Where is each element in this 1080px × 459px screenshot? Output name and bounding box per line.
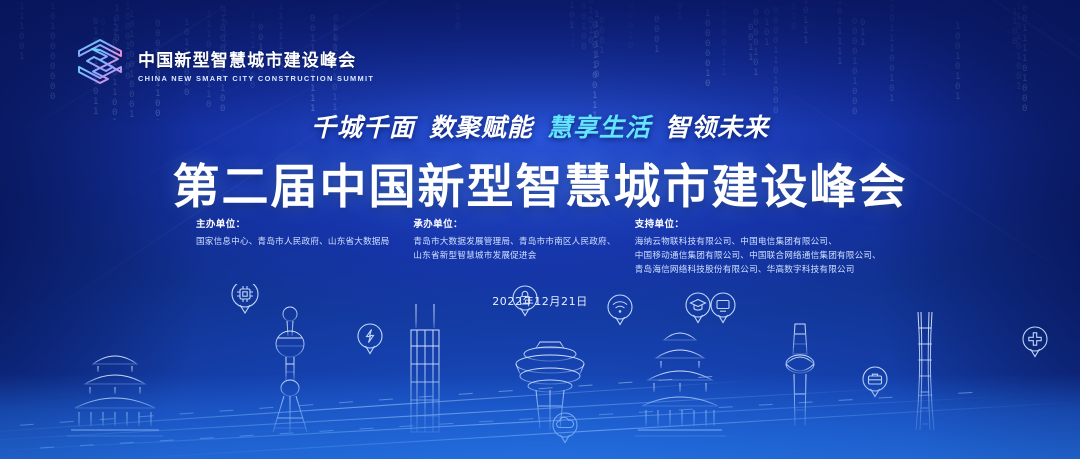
binary-column: 1 0 0 1 0 1 0 1 [955,22,961,102]
logo-title-en: CHINA NEW SMART CITY CONSTRUCTION SUMMIT [138,74,374,83]
binary-column: 1 1 1 0 0 1 [19,2,25,62]
binary-column: 0 1 0 1 [764,8,770,48]
binary-column: 0 0 1 1 1 1 0 1 0 0 0 [1022,4,1028,114]
binary-column: 0 0 0 0 1 1 0 1 0 0 0 [773,6,779,116]
binary-column: 0 1 0 1 [569,0,575,31]
binary-column: 0 1 1 [570,19,576,49]
binary-column: 1 0 1 1 1 [803,0,809,46]
organizer-list: 主办单位：国家信息中心、青岛市人民政府、山东省大数据局承办单位：青岛市大数据发展… [196,216,896,278]
summit-slogan: 千城千面数聚赋能慧享生活智领未来 [0,108,1080,144]
pin-briefcase-icon [863,367,887,397]
binary-column: 0 0 0 1 0 [628,1,634,51]
organizer-line: 中国移动通信集团有限公司、中国联合网络通信集团有限公司、 [635,249,896,263]
binary-column: 1 0 0 1 0 0 [581,0,587,52]
event-date: 2022年12月21日 [0,293,1080,309]
organizer-line: 青岛海信网络科技股份有限公司、华高数字科技有限公司 [635,263,896,277]
binary-column: 1 0 0 0 0 0 1 0 [705,9,711,89]
binary-column: 0 0 0 0 1 0 1 0 0 0 [852,17,858,117]
organizer-column-3: 支持单位：海纳云物联科技有限公司、中国电信集团有限公司、中国移动通信集团有限公司… [635,216,896,278]
slogan-segment-2: 数聚赋能 [429,108,533,144]
organizer-heading: 支持单位： [635,216,896,230]
binary-column: 0 1 0 [455,2,461,32]
summit-logo[interactable]: 中国新型智慧城市建设峰会 CHINA NEW SMART CITY CONSTR… [74,36,374,92]
binary-column: 1 1 0 1 0 0 0 0 0 0 0 [50,0,56,102]
page-title: 第二届中国新型智慧城市建设峰会 [0,148,1080,217]
binary-column: 0 0 0 1 [654,15,660,55]
pin-cloud-icon [553,413,577,443]
binary-column: 0 1 0 1 0 [588,0,594,46]
binary-column: 1 1 0 1 0 1 0 0 1 [1016,2,1022,92]
binary-column: 0 1 0 1 1 1 0 0 1 0 1 [889,0,895,104]
binary-column: 0 0 1 1 [748,23,754,63]
slogan-segment-1: 千城千面 [311,108,415,144]
binary-column: 0 0 0 1 [599,16,605,56]
binary-column: 1 0 1 1 1 1 1 [837,0,843,67]
organizer-line: 青岛市大数据发展管理局、青岛市市南区人民政府、 [413,235,634,249]
smart-city-cube-s-logo-icon [74,36,126,92]
binary-column: 0 1 1 [860,18,866,48]
organizer-heading: 主办单位： [196,216,413,230]
binary-column: 0 1 0 1 1 0 0 1 1 1 1 [592,21,598,120]
binary-column: 0 0 0 0 1 0 1 [753,8,759,78]
cityscape-illustration [0,284,1080,459]
binary-column: 1 1 0 1 1 0 0 [594,10,600,80]
slogan-segment-3: 慧享生活 [547,108,651,144]
logo-title-cn: 中国新型智慧城市建设峰会 [138,46,374,71]
pin-lightning-icon [358,324,382,354]
organizer-line: 山东省新型智慧城市发展促进会 [413,249,634,263]
binary-column: 1 1 0 0 [1012,7,1018,47]
binary-column: 0 1 0 [791,2,797,32]
organizer-line: 海纳云物联科技有限公司、中国电信集团有限公司、 [635,235,896,249]
organizer-line: 国家信息中心、青岛市人民政府、山东省大数据局 [196,235,413,249]
pin-medical-icon [1023,327,1047,357]
organizer-heading: 承办单位： [413,216,634,230]
summit-poster: 1 0 1 1 1 0 0 0 0 1 0 1 1 0 0 0 0 1 1 1 … [0,0,1080,459]
slogan-segment-4: 智领未来 [665,108,769,144]
binary-column: 0 0 1 [677,0,683,22]
binary-column: 1 0 0 0 0 1 1 1 [721,0,727,78]
organizer-column-1: 主办单位：国家信息中心、青岛市人民政府、山东省大数据局 [196,216,413,249]
organizer-column-2: 承办单位：青岛市大数据发展管理局、青岛市市南区人民政府、山东省新型智慧城市发展促… [413,216,634,263]
